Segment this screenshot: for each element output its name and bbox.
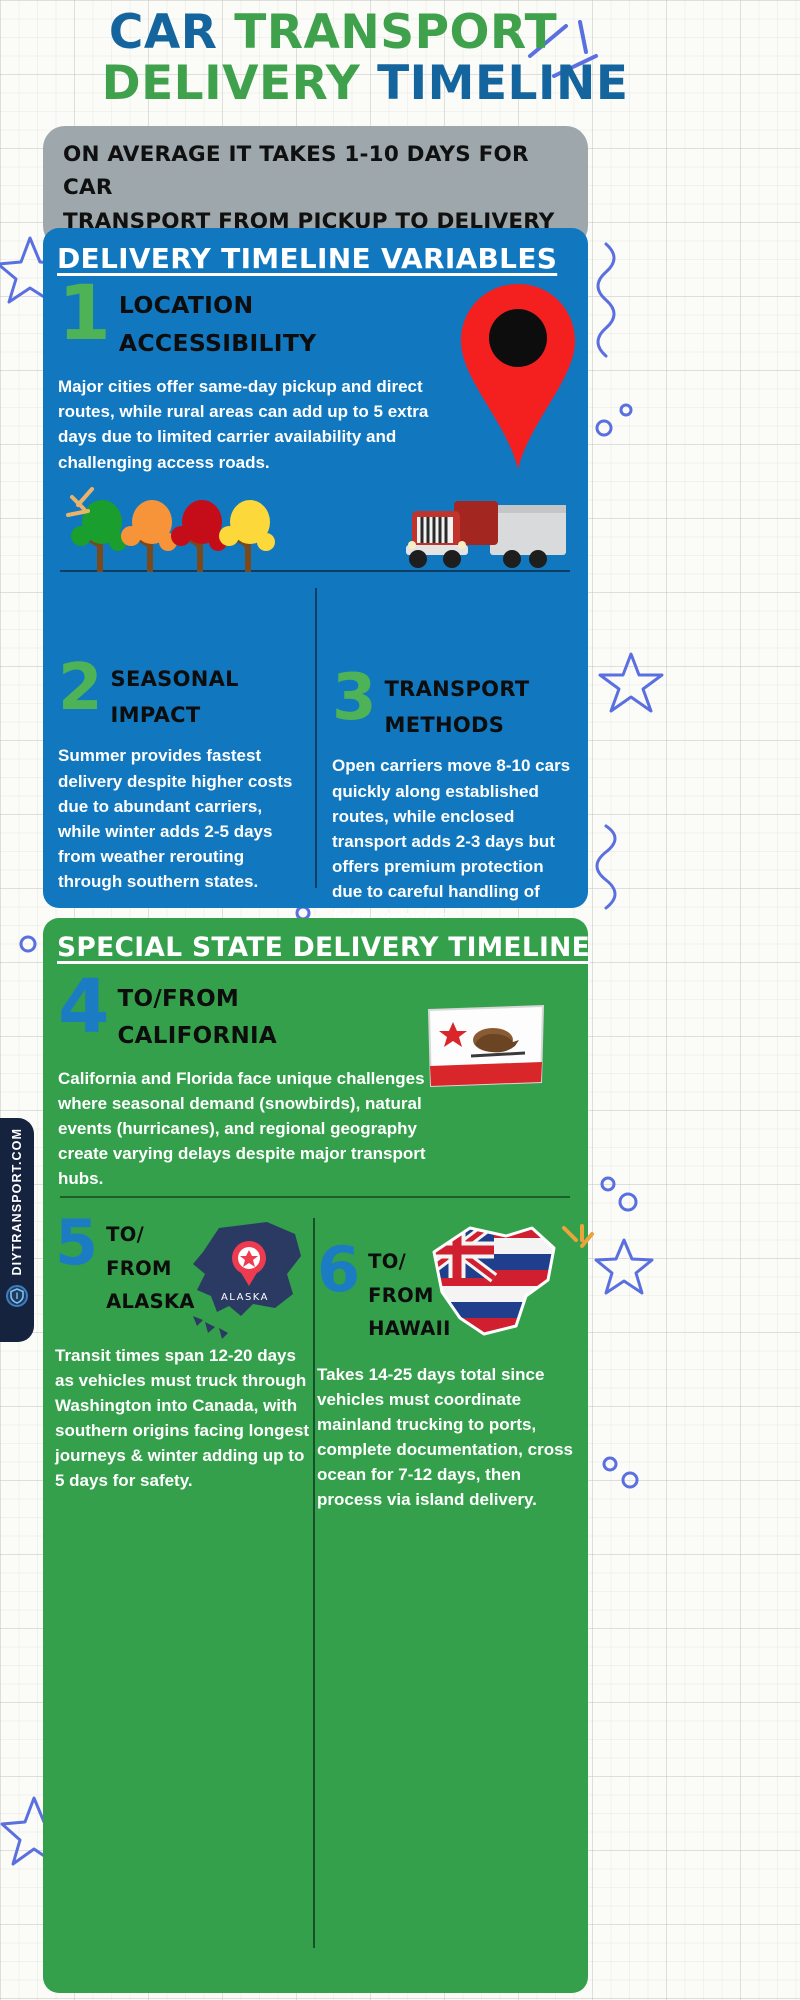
blue-section-heading: DELIVERY TIMELINE VARIABLES [43, 228, 588, 275]
title-word-car: CAR [109, 5, 234, 60]
item-number: 1 [58, 282, 111, 344]
list-item-2: 2 SEASONAL IMPACT Summer provides fastes… [58, 588, 308, 894]
item-body: Major cities offer same-day pickup and d… [58, 374, 468, 475]
item-number: 4 [58, 977, 110, 1038]
semi-truck-icon [392, 495, 570, 586]
item-title: TRANSPORT METHODS [385, 672, 530, 743]
item-title-line-1: TO/FROM [118, 986, 240, 1012]
site-watermark-tab[interactable]: DIYTRANSPORT.COM [0, 1118, 34, 1342]
item-title-line-2: FROM [106, 1257, 172, 1280]
green-section-heading: SPECIAL STATE DELIVERY TIMELINE [43, 918, 588, 963]
page-title: CAR TRANSPORT DELIVERY TIMELINE [0, 8, 660, 110]
item-title-line-3: HAWAII [368, 1317, 451, 1340]
item-title: SEASONAL IMPACT [111, 662, 239, 733]
item-title: TO/ FROM ALASKA [106, 1218, 195, 1319]
list-item-3: 3 TRANSPORT METHODS Open carriers move 8… [332, 588, 582, 929]
item-number: 6 [317, 1245, 360, 1296]
divider-blue-vertical [315, 588, 317, 888]
item-body: Transit times span 12-20 days as vehicle… [55, 1343, 310, 1494]
item-title-line-1: LOCATION [119, 291, 254, 319]
item-title-line-1: SEASONAL [111, 667, 239, 691]
list-item-5: 5 TO/ FROM ALASKA Transit times span 12-… [55, 1218, 310, 1494]
item-title-line-2: METHODS [385, 713, 505, 737]
item-title-line-1: TO/ [106, 1223, 144, 1246]
item-title-line-1: TRANSPORT [385, 677, 530, 701]
item-number: 5 [55, 1218, 98, 1269]
item-title: TO/FROM CALIFORNIA [118, 975, 277, 1056]
item-title: TO/ FROM HAWAII [368, 1245, 451, 1346]
sparkle-icon [62, 483, 108, 534]
item-body: Open carriers move 8-10 cars quickly alo… [332, 753, 577, 929]
item-title-line-2: CALIFORNIA [118, 1023, 277, 1049]
list-item-1: 1 LOCATION ACCESSIBILITY Major cities of… [58, 280, 488, 475]
shield-logo-icon [6, 1285, 28, 1307]
item-number: 3 [332, 672, 377, 724]
item-title: LOCATION ACCESSIBILITY [119, 280, 317, 362]
title-word-transport: TRANSPORT [234, 5, 557, 60]
item-title-line-1: TO/ [368, 1250, 406, 1273]
item-title-line-2: FROM [368, 1284, 434, 1307]
item-body: Takes 14-25 days total since vehicles mu… [317, 1362, 579, 1513]
list-item-6: 6 TO/ FROM HAWAII Takes 14-25 days total… [317, 1245, 582, 1513]
item-number: 2 [58, 662, 103, 714]
item-body: Summer provides fastest delivery despite… [58, 743, 298, 894]
site-watermark-label: DIYTRANSPORT.COM [10, 1128, 24, 1275]
item-body: California and Florida face unique chall… [58, 1066, 470, 1192]
subtitle-line-1: ON AVERAGE IT TAKES 1-10 DAYS FOR CAR [63, 138, 568, 205]
item-title-line-2: ACCESSIBILITY [119, 329, 317, 357]
item-title-line-3: ALASKA [106, 1290, 195, 1313]
divider-green-horizontal [60, 1196, 570, 1198]
list-item-4: 4 TO/FROM CALIFORNIA California and Flor… [58, 975, 478, 1191]
item-title-line-2: IMPACT [111, 703, 201, 727]
title-word-timeline: TIMELINE [377, 56, 628, 111]
title-word-delivery: DELIVERY [102, 56, 378, 111]
